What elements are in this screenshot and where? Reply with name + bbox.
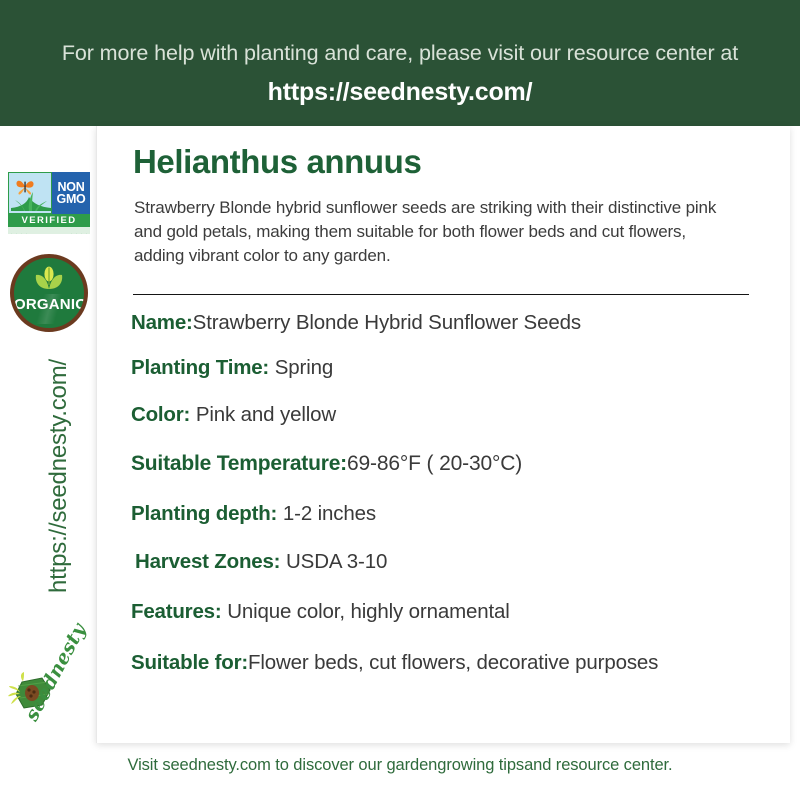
non-gmo-text-panel: NON GMO	[52, 172, 90, 214]
spec-row-suitable-temperature: Suitable Temperature:69-86°F ( 20-30°C)	[131, 452, 522, 476]
page-title: Helianthus annuus	[133, 143, 421, 181]
spec-row-planting-time: Planting Time: Spring	[131, 356, 333, 380]
header-help-text: For more help with planting and care, pl…	[62, 41, 738, 67]
non-gmo-sky-panel	[8, 172, 52, 214]
seal-sheen	[10, 294, 88, 324]
organic-seal-badge: ORGANIC	[10, 254, 88, 332]
spec-value: USDA 3-10	[286, 550, 387, 573]
non-gmo-top-section: NON GMO	[8, 172, 90, 214]
header-website-url[interactable]: https://seednesty.com/	[268, 78, 533, 107]
spec-value: Flower beds, cut flowers, decorative pur…	[248, 651, 658, 674]
spec-row-features: Features: Unique color, highly ornamenta…	[131, 600, 510, 624]
non-gmo-verified-badge: NON GMO VERIFIED	[8, 172, 90, 234]
grass-blades-icon	[11, 191, 51, 211]
spec-row-color: Color: Pink and yellow	[131, 403, 336, 427]
spec-row-harvest-zones: Harvest Zones: USDA 3-10	[135, 550, 387, 574]
spec-value: 69-86°F ( 20-30°C)	[347, 452, 522, 475]
non-gmo-seed-strip	[8, 227, 90, 234]
spec-label: Name:	[131, 311, 193, 334]
spec-value: Pink and yellow	[196, 403, 336, 426]
header-banner: For more help with planting and care, pl…	[0, 0, 800, 126]
spec-label: Suitable Temperature:	[131, 452, 347, 475]
spec-row-planting-depth: Planting depth: 1-2 inches	[131, 502, 376, 526]
badge-rail: NON GMO VERIFIED ORGANIC	[0, 126, 96, 743]
spec-label: Harvest Zones:	[135, 550, 280, 573]
spec-label: Planting Time:	[131, 356, 269, 379]
spec-value: Spring	[275, 356, 333, 379]
spec-value: Strawberry Blonde Hybrid Sunflower Seeds	[193, 311, 581, 334]
seednesty-logo: seednesty	[2, 644, 94, 739]
spec-row-name: Name:Strawberry Blonde Hybrid Sunflower …	[131, 311, 581, 335]
verified-bar: VERIFIED	[8, 214, 90, 227]
product-description: Strawberry Blonde hybrid sunflower seeds…	[134, 196, 734, 268]
product-info-card: Helianthus annuus Strawberry Blonde hybr…	[96, 126, 790, 743]
spec-label: Features:	[131, 600, 221, 623]
spec-value: Unique color, highly ornamental	[227, 600, 510, 623]
section-divider	[133, 294, 749, 295]
spec-label: Suitable for:	[131, 651, 248, 674]
gmo-label: GMO	[57, 193, 86, 206]
spec-label: Planting depth:	[131, 502, 277, 525]
vertical-website-url[interactable]: https://seednesty.com/	[45, 331, 73, 621]
spec-value: 1-2 inches	[283, 502, 376, 525]
leaf-emblem-icon	[34, 266, 64, 290]
seed-strip-graphic	[8, 233, 90, 234]
spec-row-suitable-for: Suitable for:Flower beds, cut flowers, d…	[131, 651, 658, 675]
footer-note: Visit seednesty.com to discover our gard…	[0, 756, 800, 775]
spec-label: Color:	[131, 403, 190, 426]
